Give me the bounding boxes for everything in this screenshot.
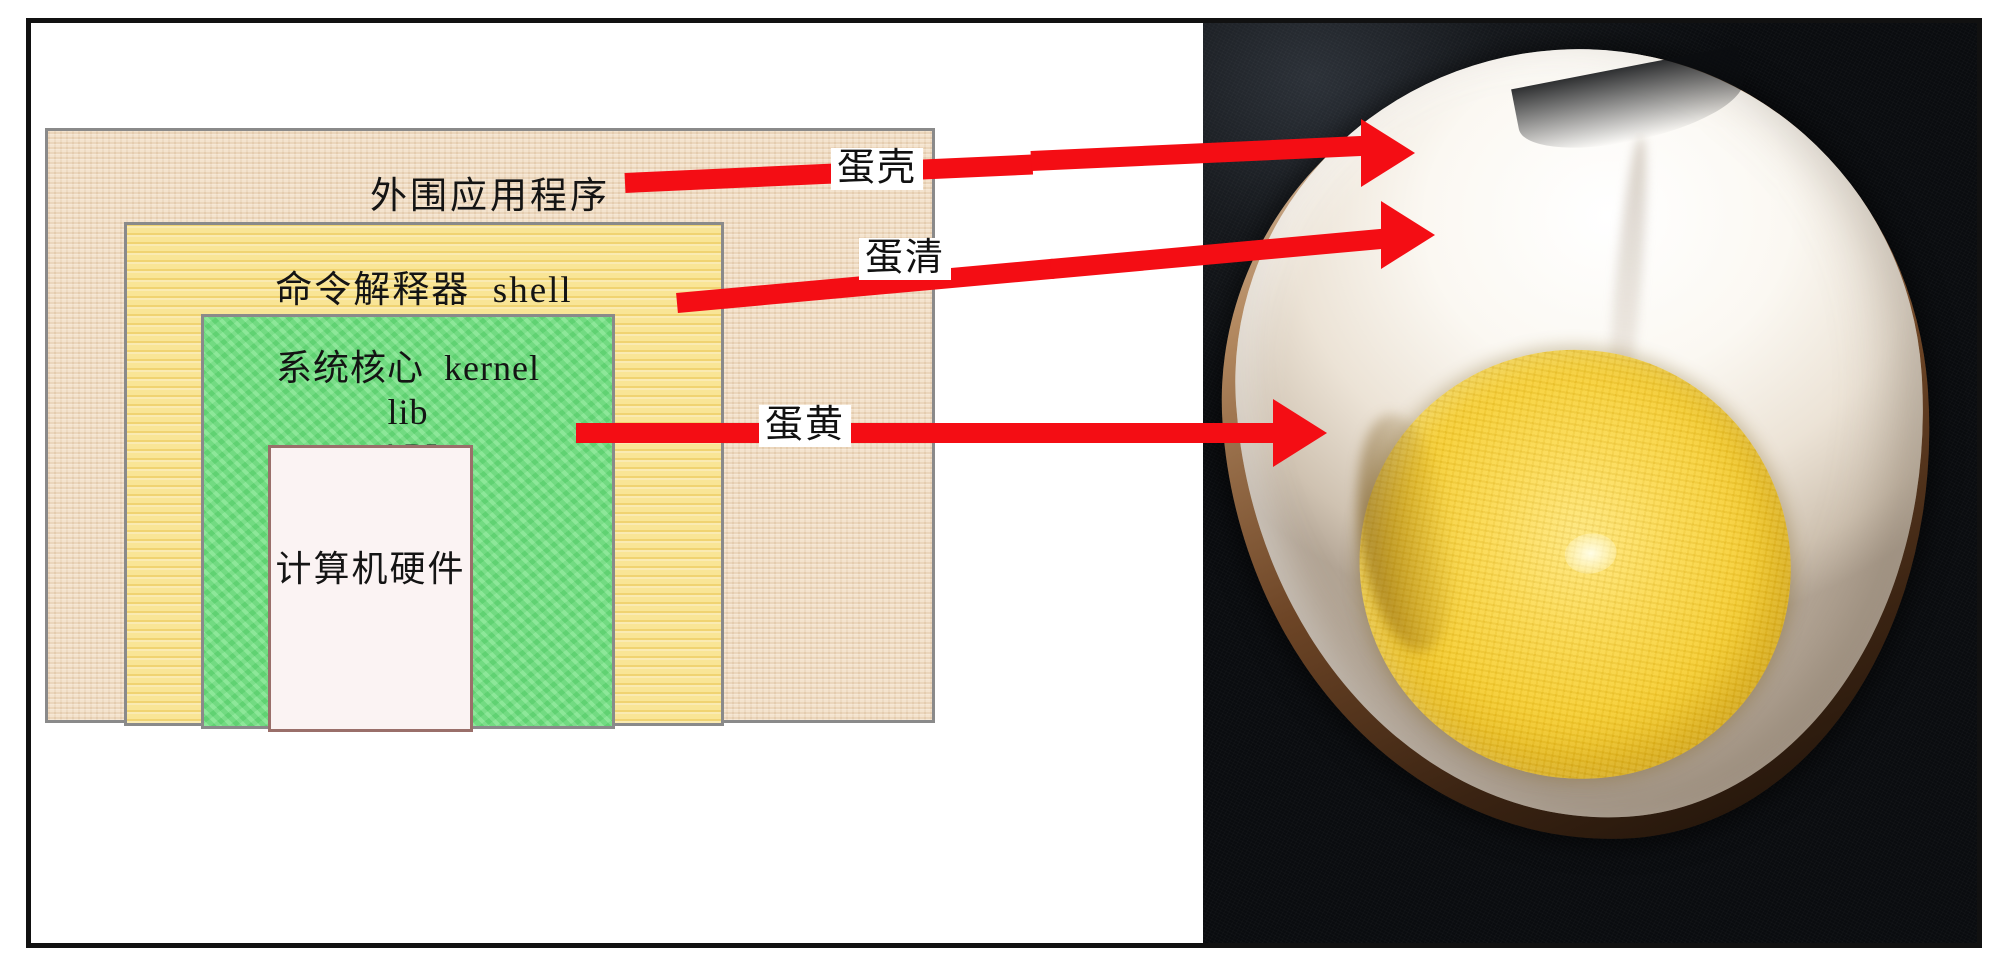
arrow-head-eggwhite	[1381, 201, 1435, 269]
arrow-shaft-eggyolk-right	[981, 423, 1303, 443]
egg-yolk-region	[1332, 322, 1818, 808]
annotation-label-eggshell: 蛋壳	[831, 148, 923, 190]
annotation-label-eggyolk: 蛋黄	[759, 405, 851, 447]
slide-frame: 外围应用程序 命令解释器 shell 系统核心 kernel lib API 计…	[26, 18, 1982, 948]
boiled-egg-photo	[1203, 23, 1977, 943]
layer-box-shell[interactable]: 命令解释器 shell 系统核心 kernel lib API 计算机硬件	[124, 222, 724, 726]
layer-box-hardware[interactable]: 计算机硬件	[268, 445, 473, 732]
arrow-head-eggyolk	[1273, 399, 1327, 467]
slide-canvas: 外围应用程序 命令解释器 shell 系统核心 kernel lib API 计…	[0, 0, 2008, 976]
layer-label-shell: 命令解释器 shell	[127, 259, 721, 313]
arrow-head-eggshell	[1361, 119, 1415, 187]
annotation-label-eggwhite: 蛋清	[859, 238, 951, 280]
layer-box-kernel[interactable]: 系统核心 kernel lib API 计算机硬件	[201, 314, 615, 729]
egg-white-notch	[1511, 46, 1751, 163]
layer-label-hardware: 计算机硬件	[271, 548, 470, 592]
